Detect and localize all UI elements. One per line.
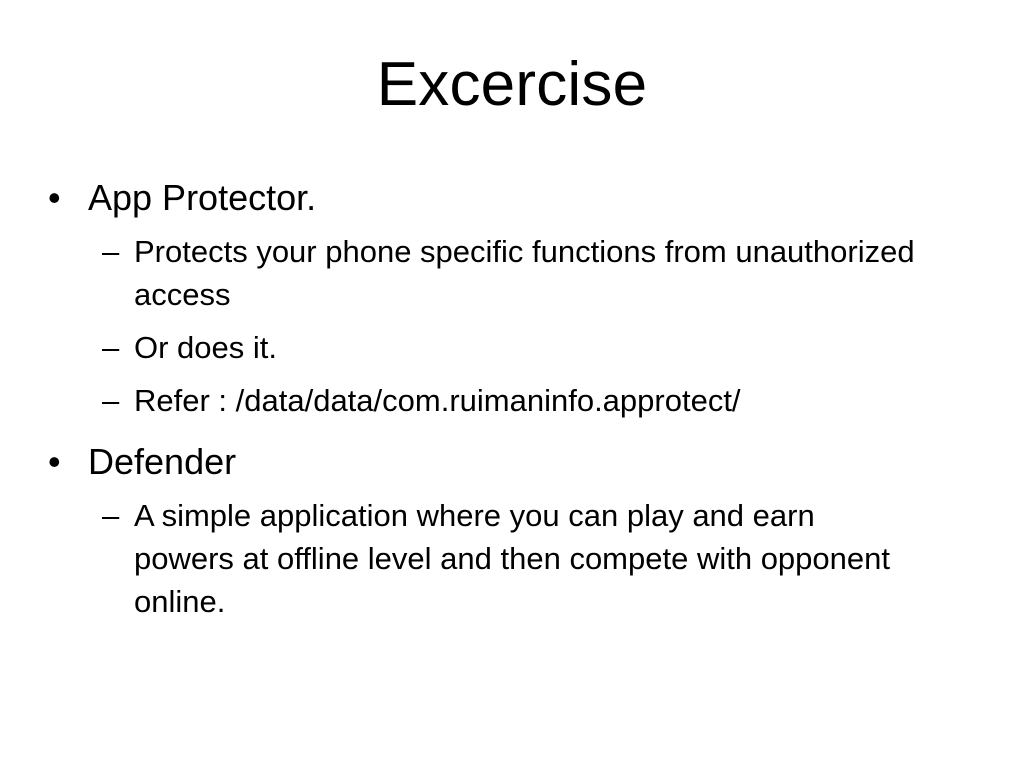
list-item-label: Refer : /data/data/com.ruimaninfo.approt… <box>134 379 916 422</box>
page-title: Excercise <box>0 52 1024 117</box>
spacer <box>0 432 1024 440</box>
list-item: • App Protector. <box>0 176 1024 220</box>
list-item: • Defender <box>0 440 1024 484</box>
list-item-label: Or does it. <box>134 326 916 369</box>
slide-canvas: Excercise • App Protector. – Protects yo… <box>0 0 1024 768</box>
list-item-label: App Protector. <box>88 177 316 218</box>
list-item-label: Protects your phone specific functions f… <box>134 230 916 316</box>
list-item: – Or does it. <box>0 326 1024 369</box>
list-item: – Refer : /data/data/com.ruimaninfo.appr… <box>0 379 1024 422</box>
bullet-list: • App Protector. – Protects your phone s… <box>0 176 1024 633</box>
list-item-label: Defender <box>88 441 236 482</box>
bullet-dash-icon: – <box>102 326 128 369</box>
bullet-dash-icon: – <box>102 379 128 422</box>
list-item: – Protects your phone specific functions… <box>0 230 1024 316</box>
bullet-dot-icon: • <box>48 440 72 484</box>
bullet-dash-icon: – <box>102 494 128 537</box>
bullet-dot-icon: • <box>48 176 72 220</box>
list-item: – A simple application where you can pla… <box>0 494 1024 623</box>
list-item-label: A simple application where you can play … <box>134 494 916 623</box>
bullet-dash-icon: – <box>102 230 128 273</box>
